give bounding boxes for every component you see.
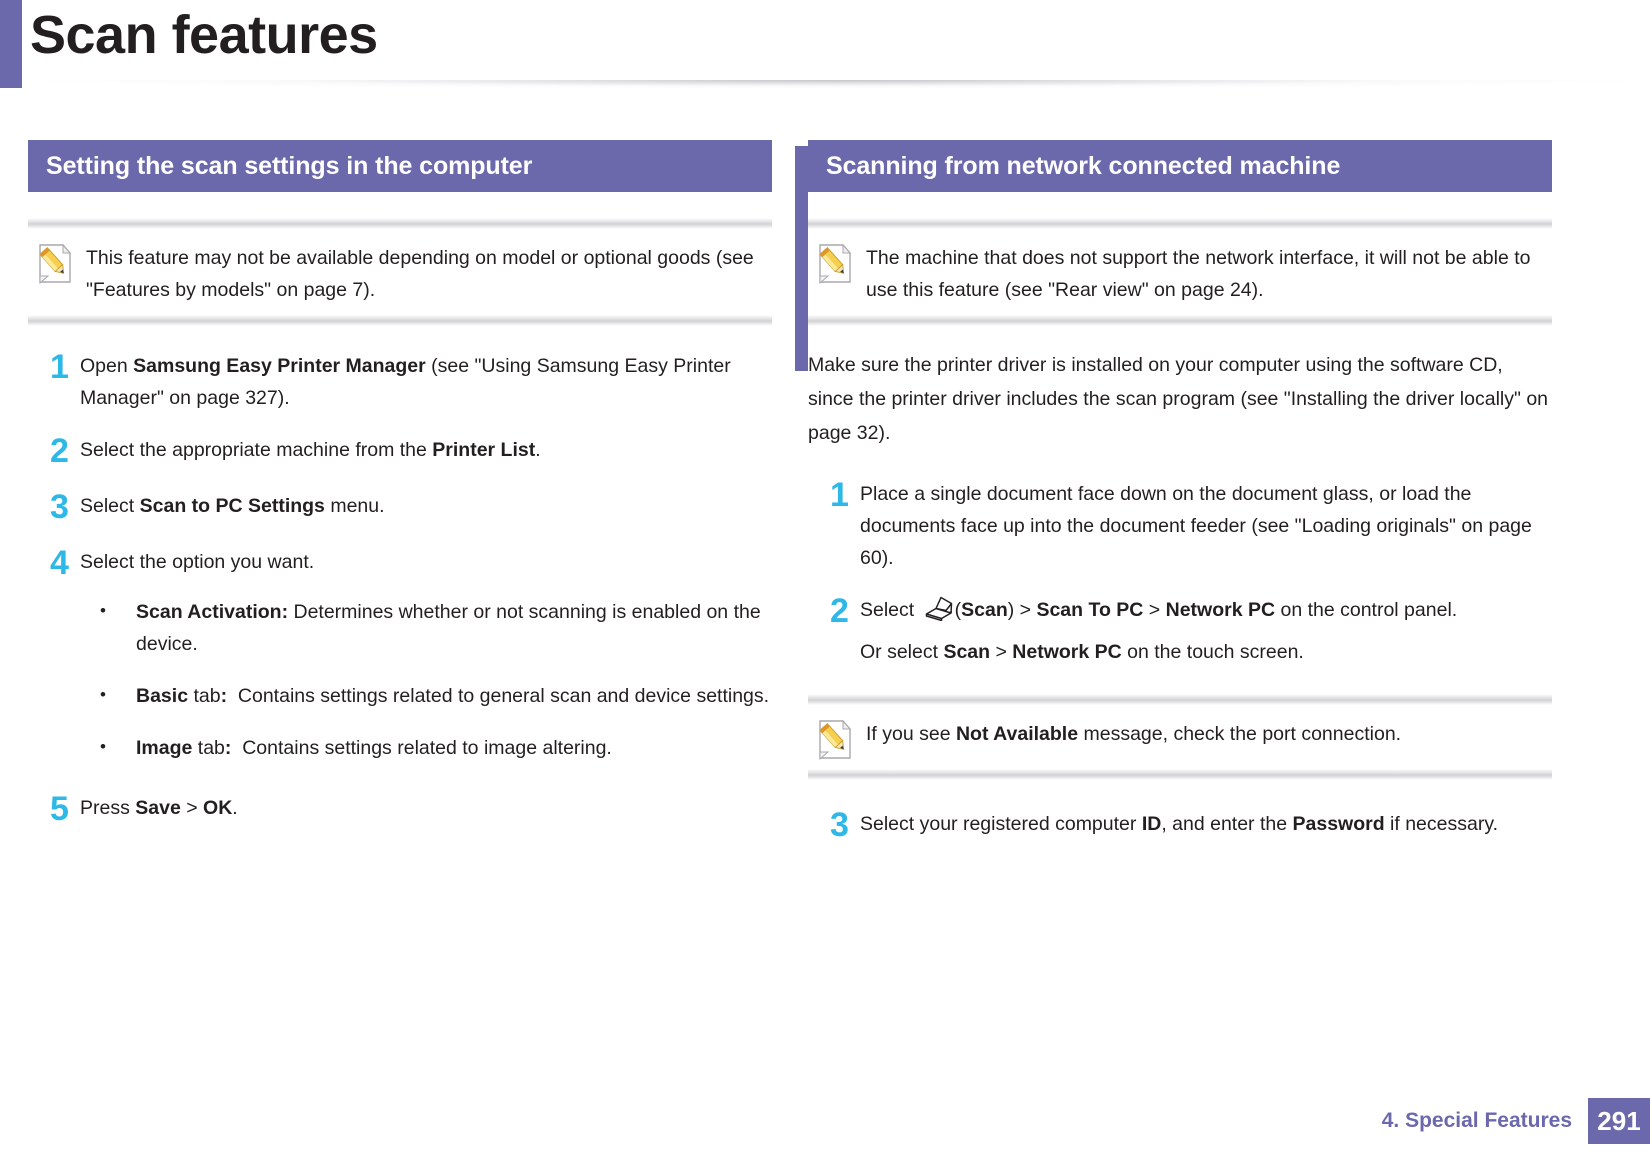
note-pencil-icon [38,244,72,284]
section-title: Setting the scan settings in the compute… [46,152,532,181]
step-number: 2 [28,432,80,470]
step-3: 3 Select your registered computer ID, an… [808,806,1552,844]
note-box-not-available: If you see Not Available message, check … [808,694,1552,780]
section-heading-network-scanning: Scanning from network connected machine [808,140,1552,192]
step-4-bullets: Scan Activation: Determines whether or n… [80,596,772,764]
step-body: Place a single document face down on the… [860,476,1552,574]
note-pencil-icon [818,244,852,284]
note-box-network-support: The machine that does not support the ne… [808,218,1552,326]
step-2: 2 Select (Scan) > Scan To PC > Network P… [808,592,1552,668]
step-number: 5 [28,790,80,828]
intro-paragraph: Make sure the printer driver is installe… [808,348,1552,450]
step-body: Press Save > OK. [80,790,772,824]
header-accent-bar [0,0,22,88]
bullet-image-tab: Image tab: Contains settings related to … [80,732,772,764]
step-text-alt: Or select Scan > Network PC on the touch… [860,636,1552,668]
step-1: 1 Place a single document face down on t… [808,476,1552,574]
step-text: Select (Scan) > Scan To PC > Network PC … [860,594,1552,626]
step-5: 5 Press Save > OK. [28,790,772,828]
step-number: 2 [808,592,860,630]
right-column-accent-bar [795,146,808,371]
section-heading-scan-settings: Setting the scan settings in the compute… [28,140,772,192]
step-body: Select your registered computer ID, and … [860,806,1552,840]
step-body: Select (Scan) > Scan To PC > Network PC … [860,592,1552,668]
left-steps-list: 1 Open Samsung Easy Printer Manager (see… [28,348,772,828]
step-text: Select Scan to PC Settings menu. [80,490,772,522]
step-1: 1 Open Samsung Easy Printer Manager (see… [28,348,772,414]
step-number: 3 [28,488,80,526]
step-text: Place a single document face down on the… [860,478,1552,574]
note-text: If you see Not Available message, check … [852,718,1544,750]
bullet-basic-tab: Basic tab: Contains settings related to … [80,680,772,712]
right-column: Scanning from network connected machine [808,140,1552,862]
step-number: 1 [28,348,80,386]
step-number: 4 [28,544,80,582]
step-body: Select the appropriate machine from the … [80,432,772,466]
note-line-1: The machine that does not support the ne… [866,247,1509,269]
note-box-feature-availability: This feature may not be available depend… [28,218,772,326]
right-steps-list: 1 Place a single document face down on t… [808,476,1552,844]
note-line-1: This feature may not be available depend… [86,247,710,269]
step-text: Press Save > OK. [80,792,772,824]
step-body: Open Samsung Easy Printer Manager (see "… [80,348,772,414]
step-number: 3 [808,806,860,844]
note-text: The machine that does not support the ne… [852,242,1544,306]
page-title: Scan features [30,0,378,72]
bullet-scan-activation: Scan Activation: Determines whether or n… [80,596,772,660]
note-text: This feature may not be available depend… [72,242,764,306]
step-text: Select the appropriate machine from the … [80,434,772,466]
step-4: 4 Select the option you want. Scan Activ… [28,544,772,764]
step-body: Select the option you want. Scan Activat… [80,544,772,764]
scanner-icon [924,595,954,621]
page-footer: 4. Special Features 291 [1382,1098,1650,1144]
step-2: 2 Select the appropriate machine from th… [28,432,772,470]
left-column: Setting the scan settings in the compute… [28,140,772,846]
header-divider [22,80,1650,94]
step-text: Select your registered computer ID, and … [860,808,1552,840]
section-title: Scanning from network connected machine [826,152,1340,181]
step-text: Select the option you want. [80,546,772,578]
footer-page-number: 291 [1588,1098,1650,1144]
note-pencil-icon [818,720,852,760]
step-text: Open Samsung Easy Printer Manager (see "… [80,350,772,414]
step-number: 1 [808,476,860,514]
footer-chapter-label: 4. Special Features [1382,1098,1588,1144]
page-header: Scan features [0,0,1650,96]
step-body: Select Scan to PC Settings menu. [80,488,772,522]
step-3: 3 Select Scan to PC Settings menu. [28,488,772,526]
